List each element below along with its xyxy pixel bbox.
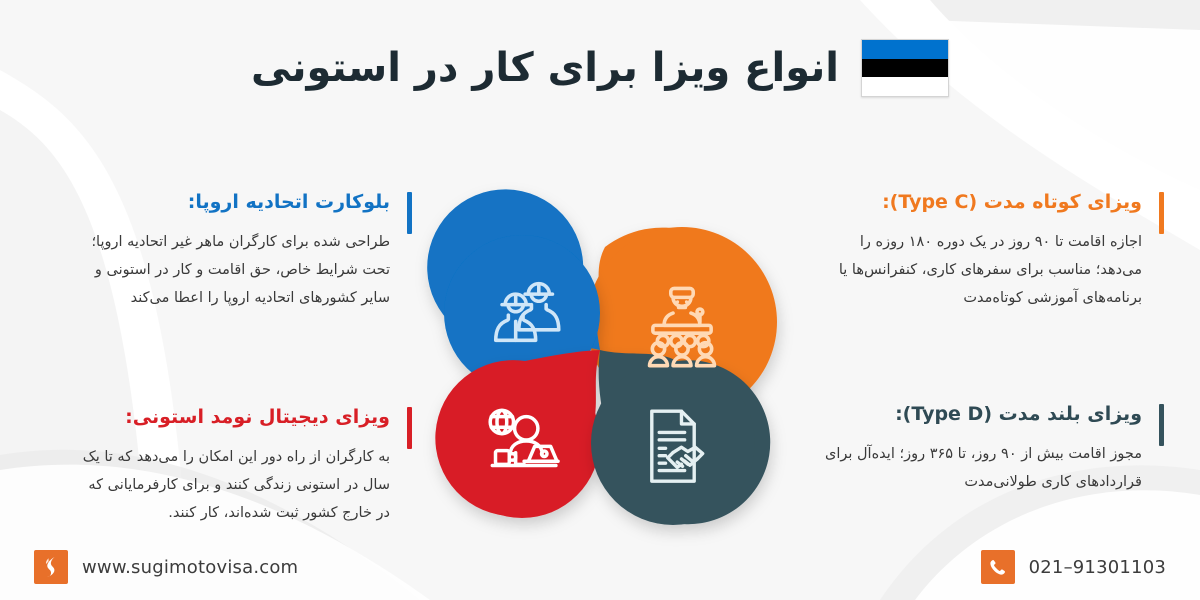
flag-stripe-white	[862, 77, 948, 96]
section-long-term-visa: ویزای بلند مدت (Type D): مجوز اقامت بیش …	[812, 402, 1164, 496]
section-body-eu-blue-card: طراحی شده برای کارگران ماهر غیر اتحادیه …	[82, 228, 412, 313]
accent-bar-digital-nomad	[407, 407, 412, 449]
section-title-short-term: ویزای کوتاه مدت (Type C):	[812, 190, 1142, 216]
section-title-eu-blue-card: بلوکارت اتحادیه اروپا:	[82, 190, 412, 216]
section-body-digital-nomad: به کارگران از راه دور این امکان را می‌ده…	[82, 443, 412, 528]
section-body-long-term: مجوز اقامت بیش از ۹۰ روز، تا ۳۶۵ روز؛ ای…	[812, 440, 1142, 497]
phone-number: 021–91301103	[1029, 557, 1166, 578]
section-title-long-term: ویزای بلند مدت (Type D):	[812, 402, 1142, 428]
website-url: www.sugimotovisa.com	[82, 557, 298, 578]
header: انواع ویزا برای کار در استونی	[0, 28, 1200, 108]
flag-stripe-black	[862, 59, 948, 78]
flag-stripe-blue	[862, 40, 948, 59]
accent-bar-eu-blue-card	[407, 192, 412, 234]
footer-phone[interactable]: 021–91301103	[981, 550, 1166, 584]
section-short-term-visa: ویزای کوتاه مدت (Type C): اجازه اقامت تا…	[812, 190, 1164, 312]
page-title: انواع ویزا برای کار در استونی	[251, 48, 839, 88]
section-eu-blue-card: بلوکارت اتحادیه اروپا: طراحی شده برای کا…	[60, 190, 412, 312]
phone-icon	[981, 550, 1015, 584]
section-body-short-term: اجازه اقامت تا ۹۰ روز در یک دوره ۱۸۰ روز…	[812, 228, 1142, 313]
infographic-canvas: انواع ویزا برای کار در استونی	[0, 0, 1200, 600]
accent-bar-long-term	[1159, 404, 1164, 446]
section-digital-nomad-visa: ویزای دیجیتال نومد استونی: به کارگران از…	[60, 405, 412, 527]
section-title-digital-nomad: ویزای دیجیتال نومد استونی:	[82, 405, 412, 431]
footer-website[interactable]: www.sugimotovisa.com	[34, 550, 298, 584]
petal-cluster	[405, 155, 795, 545]
estonia-flag-icon	[861, 39, 949, 97]
accent-bar-short-term	[1159, 192, 1164, 234]
footer: www.sugimotovisa.com 021–91301103	[0, 542, 1200, 600]
sugimoto-logo-icon	[34, 550, 68, 584]
